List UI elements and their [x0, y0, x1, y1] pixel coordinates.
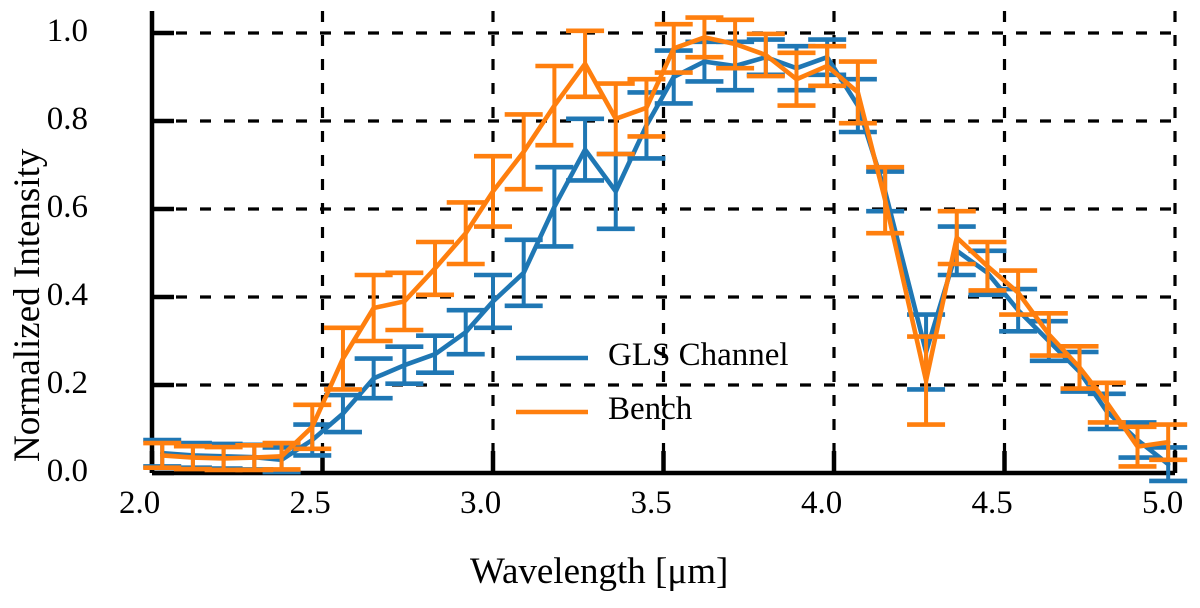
- y-axis-label: Normalized Intensity: [6, 149, 49, 462]
- x-tick-label-2.0: 2.0: [119, 487, 160, 520]
- x-tick-label-3.5: 3.5: [631, 487, 672, 520]
- x-tick-label-4.5: 4.5: [972, 487, 1013, 520]
- figure-canvas: 2.02.53.03.54.04.55.0 0.00.20.40.60.81.0…: [0, 0, 1200, 608]
- x-tick-label-5.0: 5.0: [1142, 487, 1183, 520]
- y-tick-label-1.0: 1.0: [28, 15, 88, 48]
- x-tick-label-3.0: 3.0: [460, 487, 501, 520]
- x-tick-label-2.5: 2.5: [290, 487, 331, 520]
- legend-label-bench: Bench: [608, 391, 692, 428]
- y-tick-label-0.8: 0.8: [28, 103, 88, 136]
- x-tick-label-4.0: 4.0: [801, 487, 842, 520]
- legend-swatches: [516, 358, 588, 412]
- legend-label-gls-channel: GLS Channel: [608, 337, 789, 374]
- x-axis-label: Wavelength [μm]: [470, 550, 728, 593]
- plot-area: [0, 0, 1200, 608]
